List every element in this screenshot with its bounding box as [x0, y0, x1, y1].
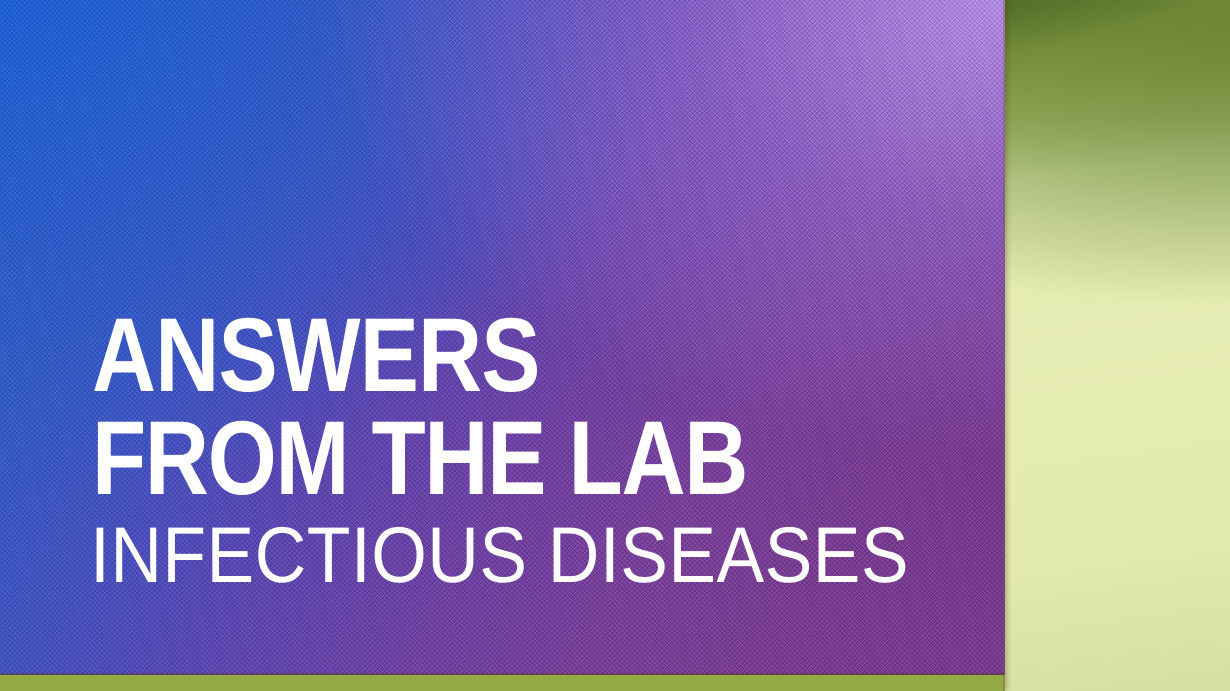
title-line-one: ANSWERS: [92, 303, 540, 408]
title-card-panel: ANSWERS FROM THE LAB INFECTIOUS DISEASES: [0, 0, 1005, 691]
bottom-accent-bar: [0, 675, 1005, 691]
panel-edge-seam: [1003, 0, 1005, 691]
title-block: ANSWERS FROM THE LAB INFECTIOUS DISEASES: [0, 0, 1005, 691]
title-slide: ANSWERS FROM THE LAB INFECTIOUS DISEASES: [0, 0, 1230, 691]
title-line-two: FROM THE LAB: [92, 406, 747, 511]
subtitle-line: INFECTIOUS DISEASES: [90, 515, 909, 594]
